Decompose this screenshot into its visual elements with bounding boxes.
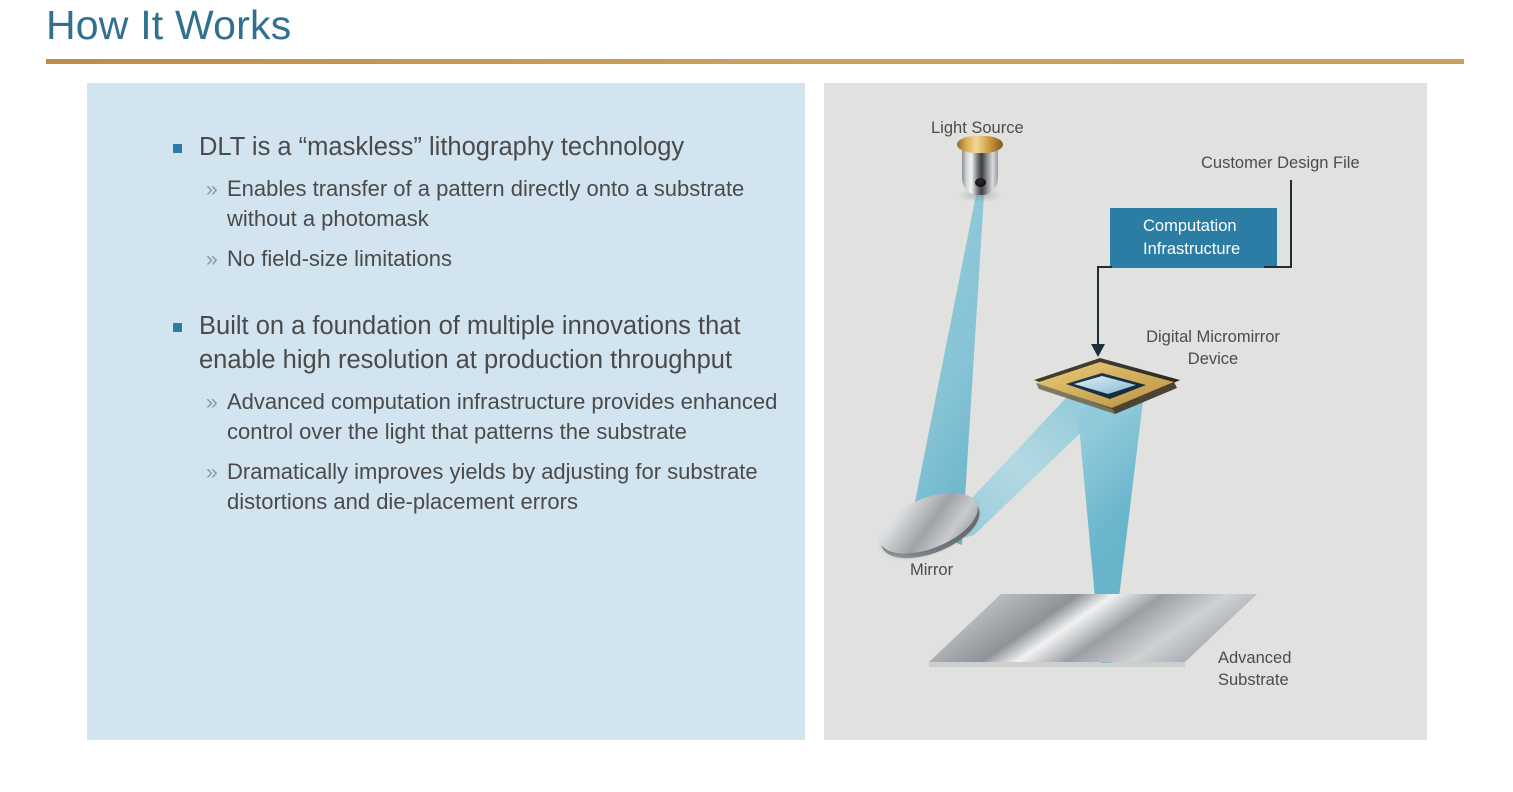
- bullet-level2: » No field-size limitations: [130, 244, 790, 274]
- double-chevron-icon: »: [206, 245, 218, 275]
- bullet-level1-text: DLT is a “maskless” lithography technolo…: [199, 133, 684, 161]
- bullet-group: Built on a foundation of multiple innova…: [130, 309, 790, 517]
- bullet-level1-text: Built on a foundation of multiple innova…: [199, 312, 741, 374]
- bullet-level1: Built on a foundation of multiple innova…: [130, 309, 790, 377]
- connector-box-to-dmd-line: [1097, 266, 1099, 346]
- lamp-collar-ring: [957, 136, 1003, 153]
- label-customer-design-file: Customer Design File: [1201, 152, 1360, 174]
- double-chevron-icon: »: [206, 175, 218, 205]
- comp-box-line2: Infrastructure: [1143, 238, 1277, 261]
- title-divider: [46, 59, 1464, 64]
- bullet-group: DLT is a “maskless” lithography technolo…: [130, 130, 790, 274]
- diagram-panel: Light Source Customer Design File Digita…: [824, 83, 1427, 740]
- bullet-level2-text: Advanced computation infrastructure prov…: [227, 389, 777, 444]
- text-content-panel: DLT is a “maskless” lithography technolo…: [87, 83, 805, 740]
- double-chevron-icon: »: [206, 458, 218, 488]
- connector-design-file-vertical: [1290, 180, 1292, 268]
- bullet-list: DLT is a “maskless” lithography technolo…: [130, 130, 790, 533]
- comp-box-line1: Computation: [1143, 215, 1277, 238]
- double-chevron-icon: »: [206, 388, 218, 418]
- bullet-level2-text: No field-size limitations: [227, 246, 452, 271]
- lamp-aperture: [975, 178, 986, 187]
- bullet-level1: DLT is a “maskless” lithography technolo…: [130, 130, 790, 164]
- bullet-level2: » Enables transfer of a pattern directly…: [130, 174, 790, 234]
- bullet-level2-text: Dramatically improves yields by adjustin…: [227, 459, 758, 514]
- bullet-level2: » Advanced computation infrastructure pr…: [130, 387, 790, 447]
- page-title: How It Works: [46, 2, 291, 49]
- advanced-substrate-plate: [929, 588, 1259, 678]
- connector-box-horizontal: [1097, 266, 1112, 268]
- dmd-chip: [1022, 358, 1182, 416]
- square-bullet-icon: [173, 144, 182, 153]
- square-bullet-icon: [173, 323, 182, 332]
- arrow-down-icon: [1091, 344, 1105, 357]
- light-source-lamp: [955, 136, 1005, 202]
- computation-infrastructure-box: Computation Infrastructure: [1110, 208, 1277, 268]
- bullet-level2-text: Enables transfer of a pattern directly o…: [227, 176, 744, 231]
- bullet-level2: » Dramatically improves yields by adjust…: [130, 457, 790, 517]
- spacer: [130, 290, 790, 309]
- connector-design-file-horizontal: [1264, 266, 1292, 268]
